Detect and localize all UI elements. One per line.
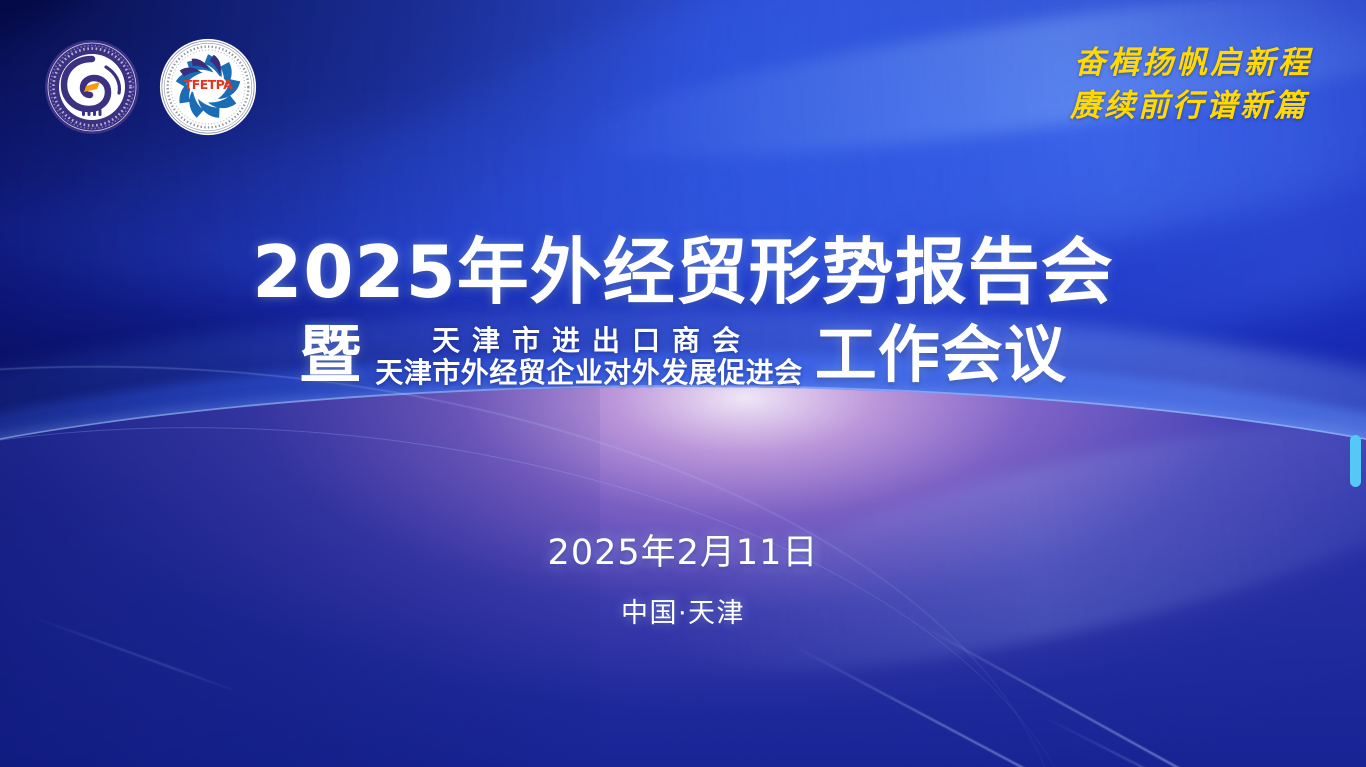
main-title: 2025年外经贸形势报告会 <box>0 236 1366 308</box>
title-block: 2025年外经贸形势报告会 暨 天津市进出口商会 天津市外经贸企业对外发展促进会… <box>0 236 1366 387</box>
conjunction-character: 暨 <box>299 324 361 386</box>
organization-stack: 天津市进出口商会 天津市外经贸企业对外发展促进会 <box>375 322 803 387</box>
tianjin-chamber-logo <box>42 37 142 137</box>
title-suffix: 工作会议 <box>815 324 1067 386</box>
conference-banner-slide: TFETPA 奋楫扬帆启新程 赓续前行谱新篇 2025年外经贸形势报告会 暨 天… <box>0 0 1366 767</box>
ground-left-shading <box>0 387 600 767</box>
slogan-line-2: 赓续前行谱新篇 <box>1070 85 1312 128</box>
event-date: 2025年2月11日 <box>0 524 1366 575</box>
organization-line-1: 天津市进出口商会 <box>375 326 803 356</box>
slogan-line-1: 奋楫扬帆启新程 <box>1070 42 1312 85</box>
organization-line-2: 天津市外经贸企业对外发展促进会 <box>375 358 803 388</box>
slogan-block: 奋楫扬帆启新程 赓续前行谱新篇 <box>1070 42 1312 128</box>
svg-text:TFETPA: TFETPA <box>184 77 233 92</box>
event-location: 中国·天津 <box>0 591 1366 630</box>
scrollbar-thumb[interactable] <box>1350 435 1361 487</box>
logo-group: TFETPA <box>42 37 258 137</box>
scrollbar-track[interactable] <box>1348 0 1366 767</box>
subtitle-row: 暨 天津市进出口商会 天津市外经贸企业对外发展促进会 工作会议 <box>0 322 1366 387</box>
horizon-ground-plane <box>0 387 1366 767</box>
tfetpa-logo: TFETPA <box>158 37 258 137</box>
